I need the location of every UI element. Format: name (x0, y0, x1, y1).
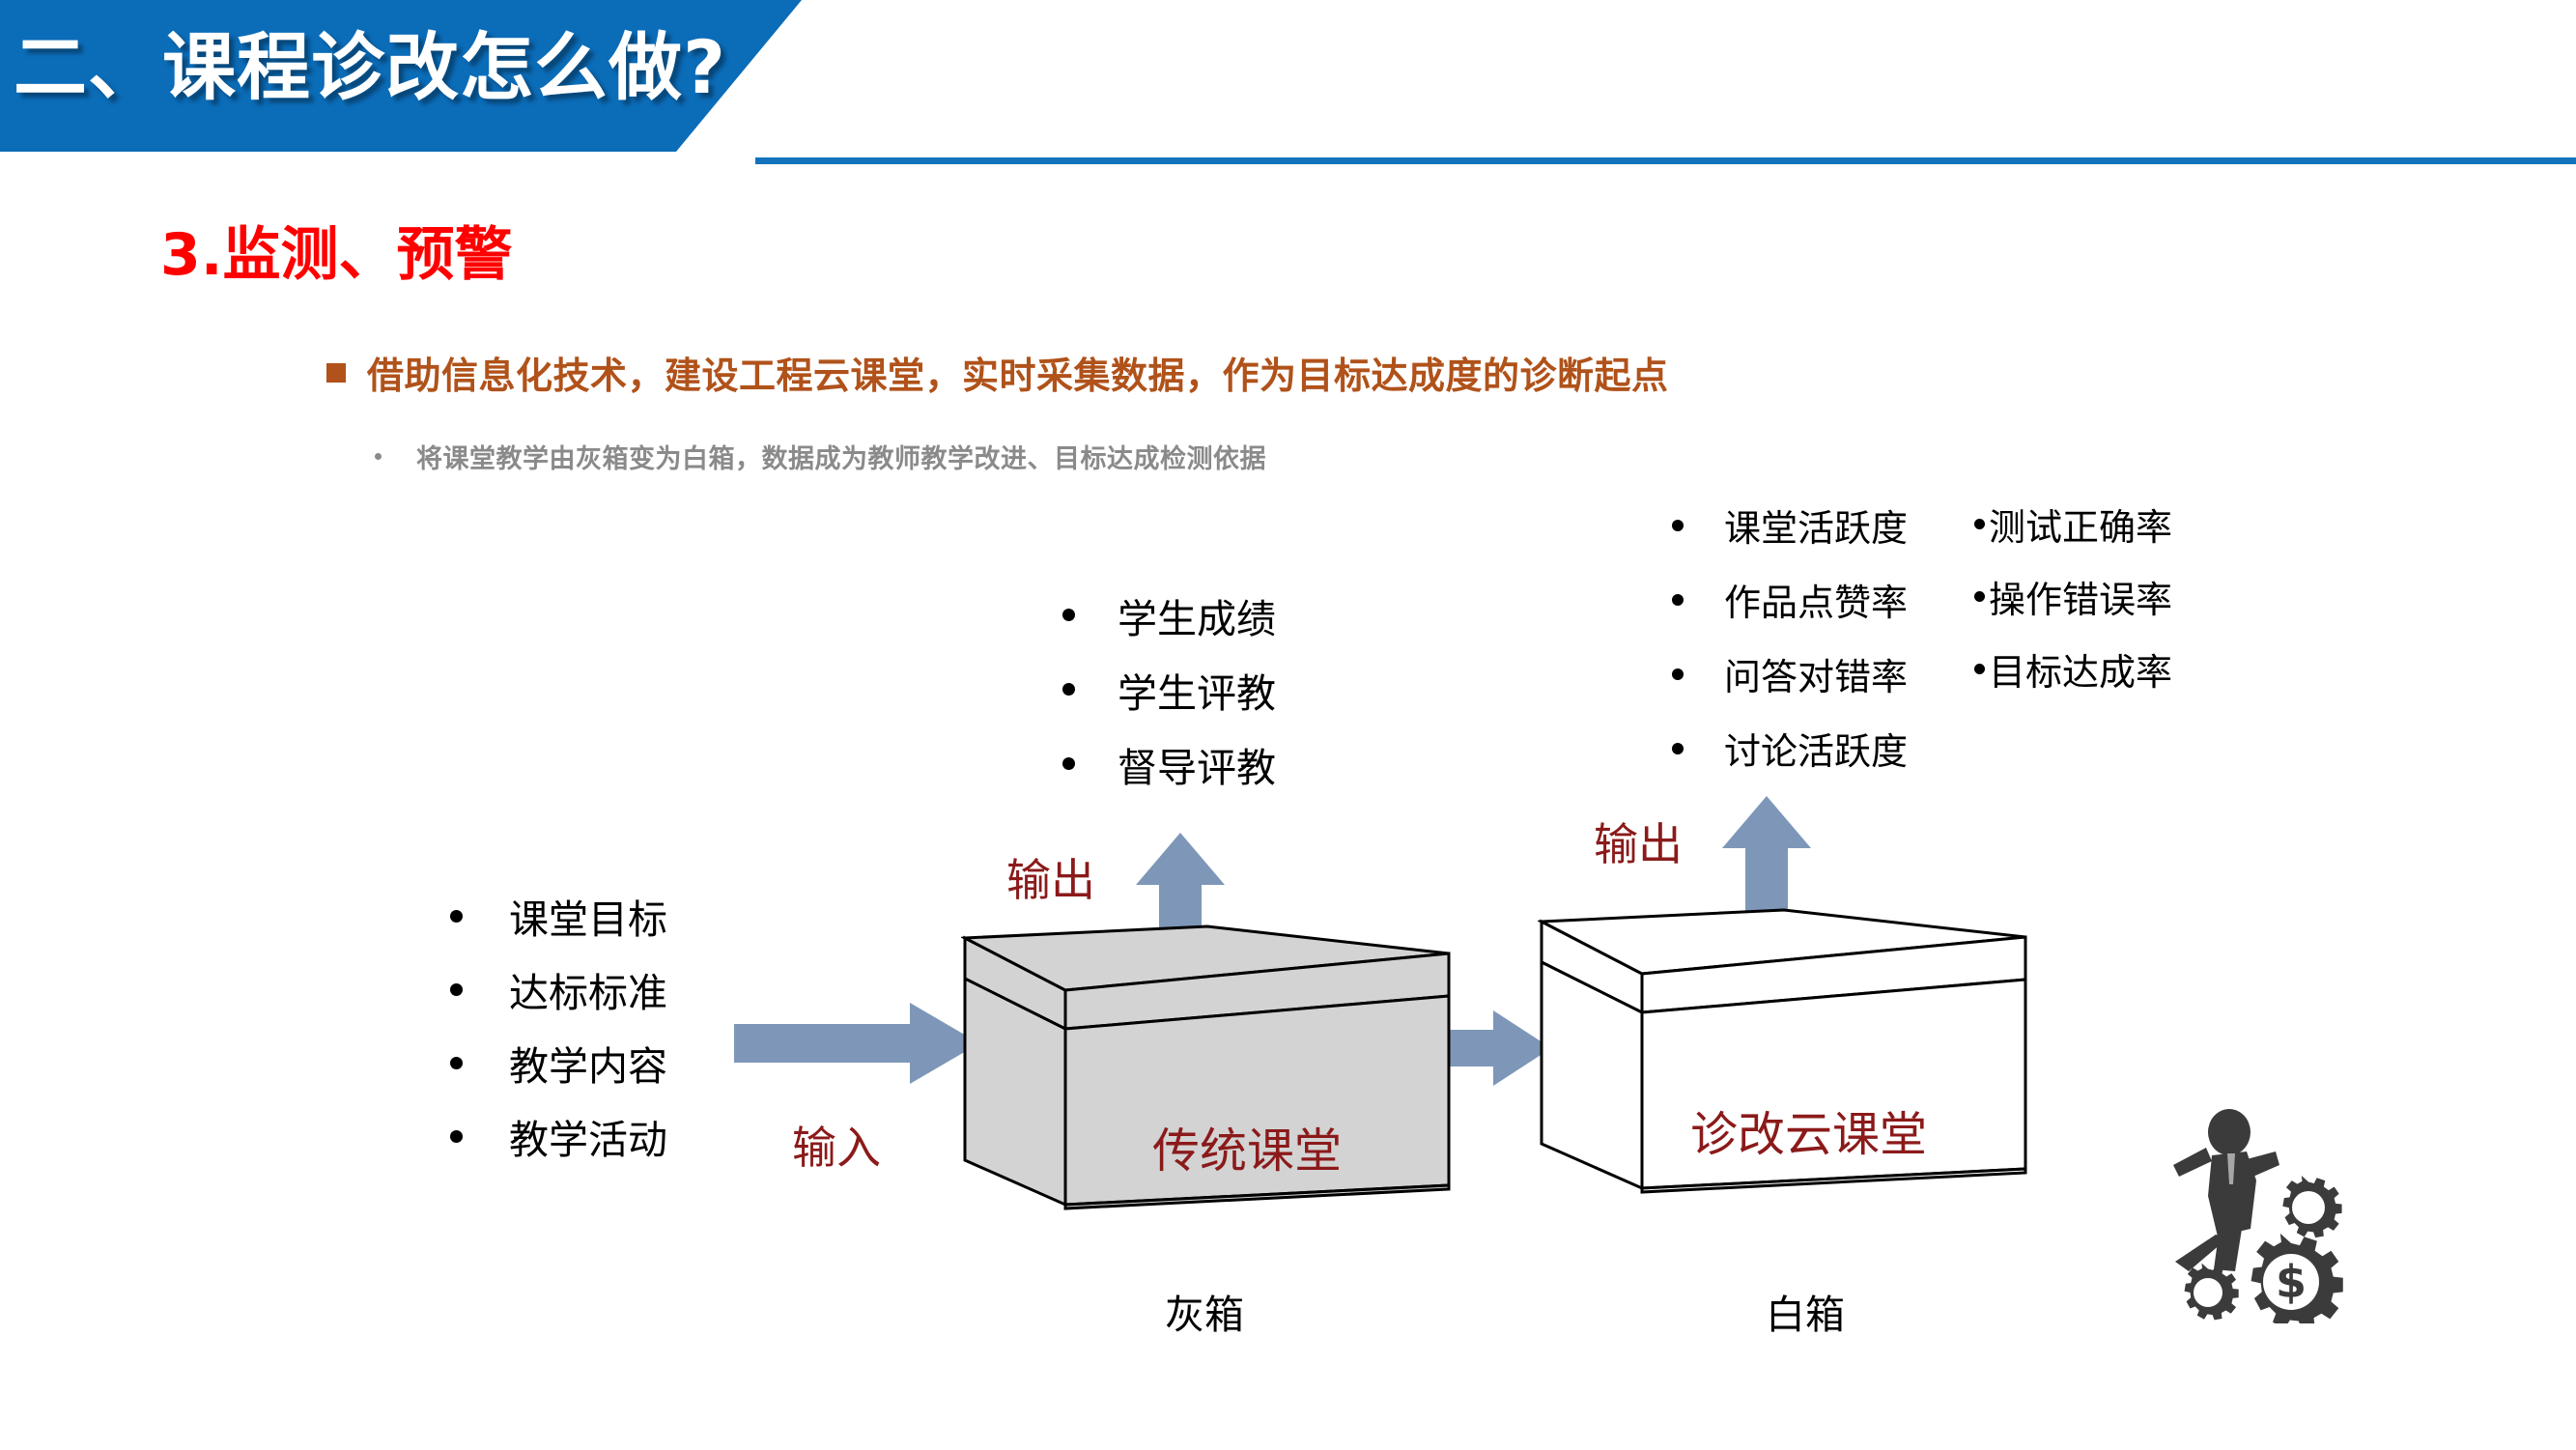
white-box-caption: 白箱 (1766, 1282, 1845, 1340)
round-bullet-icon (1974, 664, 1985, 674)
list-item-label: 教学内容 (509, 1034, 667, 1092)
output-label-right: 输出 (1594, 810, 1683, 873)
list-item-label: 目标达成率 (1989, 642, 2172, 696)
list-item-label: 讨论活跃度 (1724, 722, 1908, 775)
grey-box-shape (961, 923, 1454, 1270)
list-item: 测试正确率 (1974, 488, 2172, 560)
round-bullet-icon (450, 910, 463, 923)
output-arrow-right-icon (1718, 792, 1815, 920)
round-bullet-icon (1062, 757, 1075, 770)
list-item: 教学活动 (450, 1099, 667, 1173)
list-item: 学生成绩 (1062, 578, 1276, 652)
list-item-label: 操作错误率 (1989, 570, 2172, 623)
input-arrow-icon (726, 995, 987, 1092)
primary-bullet: 借助信息化技术，建设工程云课堂，实时采集数据，作为目标达成度的诊断起点 (326, 346, 1669, 399)
round-bullet-icon (1062, 609, 1075, 621)
list-item-label: 学生评教 (1118, 661, 1276, 719)
round-bullet-icon (375, 453, 382, 460)
list-item: 学生评教 (1062, 652, 1276, 726)
white-box-shape (1538, 906, 2030, 1254)
list-item-label: 测试正确率 (1989, 498, 2172, 551)
list-item: 督导评教 (1062, 726, 1276, 801)
output-label-left: 输出 (1006, 845, 1095, 909)
grey-box-caption: 灰箱 (1165, 1282, 1244, 1340)
list-item-label: 作品点赞率 (1724, 573, 1908, 626)
list-item: 操作错误率 (1974, 560, 2172, 633)
dollar-sign-icon: $ (2276, 1256, 2307, 1308)
secondary-bullet: 将课堂教学由灰箱变为白箱，数据成为教师教学改进、目标达成检测依据 (375, 438, 1266, 475)
round-bullet-icon (1062, 683, 1075, 696)
list-item-label: 学生成绩 (1118, 586, 1276, 644)
round-bullet-icon (1672, 520, 1684, 531)
round-bullet-icon (450, 983, 463, 996)
list-item: 目标达成率 (1974, 633, 2172, 705)
white-box-title: 诊改云课堂 (1690, 1096, 1927, 1165)
cloud-output-items-list: 课堂活跃度 作品点赞率 问答对错率 讨论活跃度 (1672, 488, 1908, 785)
list-item-label: 督导评教 (1118, 735, 1276, 793)
list-item: 作品点赞率 (1672, 562, 1908, 637)
list-item: 达标标准 (450, 952, 667, 1026)
list-item-label: 课堂目标 (509, 887, 667, 945)
square-bullet-icon (326, 363, 346, 383)
list-item: 课堂活跃度 (1672, 488, 1908, 562)
input-items-list: 课堂目标 达标标准 教学内容 教学活动 (450, 879, 667, 1173)
businessman-with-gears-icon: $ (2173, 1092, 2395, 1323)
list-item: 问答对错率 (1672, 637, 1908, 711)
round-bullet-icon (1974, 591, 1985, 602)
list-item: 课堂目标 (450, 879, 667, 952)
round-bullet-icon (450, 1130, 463, 1143)
list-item-label: 问答对错率 (1724, 647, 1908, 700)
list-item-label: 教学活动 (509, 1107, 667, 1165)
list-item-label: 达标标准 (509, 960, 667, 1018)
input-label: 输入 (792, 1113, 881, 1177)
header-divider-rule (755, 157, 2576, 164)
round-bullet-icon (1672, 594, 1684, 606)
section-heading: 3.监测、预警 (160, 208, 513, 292)
list-item: 讨论活跃度 (1672, 711, 1908, 785)
secondary-bullet-label: 将课堂教学由灰箱变为白箱，数据成为教师教学改进、目标达成检测依据 (416, 438, 1266, 475)
primary-bullet-label: 借助信息化技术，建设工程云课堂，实时采集数据，作为目标达成度的诊断起点 (367, 346, 1669, 399)
list-item-label: 课堂活跃度 (1724, 498, 1908, 552)
list-item: 教学内容 (450, 1026, 667, 1099)
round-bullet-icon (450, 1057, 463, 1069)
cloud-rate-items-list: 测试正确率 操作错误率 目标达成率 (1974, 488, 2172, 705)
round-bullet-icon (1672, 668, 1684, 680)
page-title: 二、课程诊改怎么做? (14, 8, 726, 114)
round-bullet-icon (1974, 519, 1985, 529)
round-bullet-icon (1672, 743, 1684, 754)
grey-box-title: 传统课堂 (1152, 1113, 1342, 1181)
traditional-output-items-list: 学生成绩 学生评教 督导评教 (1062, 578, 1276, 801)
